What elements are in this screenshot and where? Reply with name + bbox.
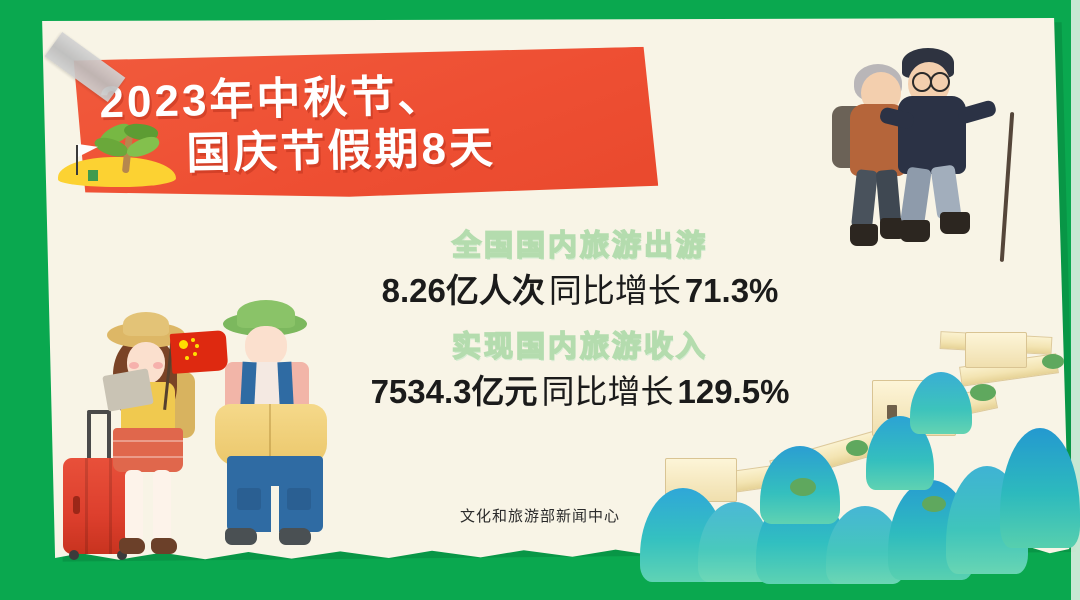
stat-percent-1: 71.3% bbox=[685, 272, 779, 309]
foliage bbox=[1042, 354, 1064, 369]
flag-star bbox=[185, 356, 189, 360]
woman-cheek bbox=[129, 362, 139, 369]
woman-hat-crown bbox=[123, 312, 169, 336]
infographic-poster: 2023年中秋节、 国庆节假期8天 bbox=[0, 0, 1080, 600]
source-footer: 文化和旅游部新闻中心 bbox=[0, 505, 1080, 526]
grandpa-boot bbox=[940, 212, 970, 234]
suitcase-handle-bar bbox=[87, 410, 111, 414]
woman-shoe bbox=[119, 538, 145, 554]
flag-star bbox=[195, 344, 199, 348]
glasses-icon bbox=[912, 72, 932, 92]
grandpa-jacket bbox=[898, 96, 966, 174]
flag-star bbox=[191, 338, 195, 342]
flag-star bbox=[179, 340, 188, 349]
glasses-icon bbox=[930, 72, 950, 92]
stat-value-1: 8.26亿人次同比增长71.3% bbox=[300, 270, 860, 313]
woman-skirt-plaid bbox=[113, 456, 183, 458]
stat-label-1: 全国国内旅游出游 bbox=[300, 228, 860, 264]
grandma-leg bbox=[876, 169, 902, 225]
green-box bbox=[88, 170, 98, 181]
banner-line-1: 2023年中秋节、 bbox=[99, 70, 672, 127]
china-flag-icon bbox=[170, 330, 229, 374]
stat-number-1: 8.26亿人次 bbox=[382, 272, 545, 309]
suitcase-wheel bbox=[69, 550, 79, 560]
suitcase-handle bbox=[87, 412, 91, 460]
mountain bbox=[1000, 428, 1080, 548]
foliage bbox=[970, 384, 996, 401]
man-hat-crown bbox=[237, 300, 295, 328]
man-face bbox=[245, 326, 287, 366]
woman-skirt-plaid bbox=[113, 440, 183, 442]
stat-number-2: 7534.3亿元 bbox=[371, 373, 538, 410]
woman-cheek bbox=[153, 362, 163, 369]
walking-cane-icon bbox=[1000, 112, 1014, 262]
man-shoe bbox=[279, 528, 311, 545]
great-wall-illustration bbox=[640, 320, 1080, 580]
palm-island-icon bbox=[58, 125, 178, 187]
flag-star bbox=[193, 352, 197, 356]
foliage bbox=[846, 440, 868, 456]
flag-pole bbox=[76, 145, 78, 175]
grandma-leg bbox=[851, 169, 878, 229]
watchtower bbox=[965, 332, 1027, 368]
man-shoe bbox=[225, 528, 257, 545]
woman-skirt bbox=[113, 428, 183, 472]
banner-line-2: 国庆节假期8天 bbox=[186, 122, 673, 178]
grandpa-leg bbox=[900, 167, 932, 226]
stat-comparison-1: 同比增长 bbox=[549, 272, 681, 309]
suitcase-handle bbox=[107, 412, 111, 460]
woman-shoe bbox=[151, 538, 177, 554]
grandpa-boot bbox=[900, 220, 930, 242]
foliage bbox=[790, 478, 816, 496]
